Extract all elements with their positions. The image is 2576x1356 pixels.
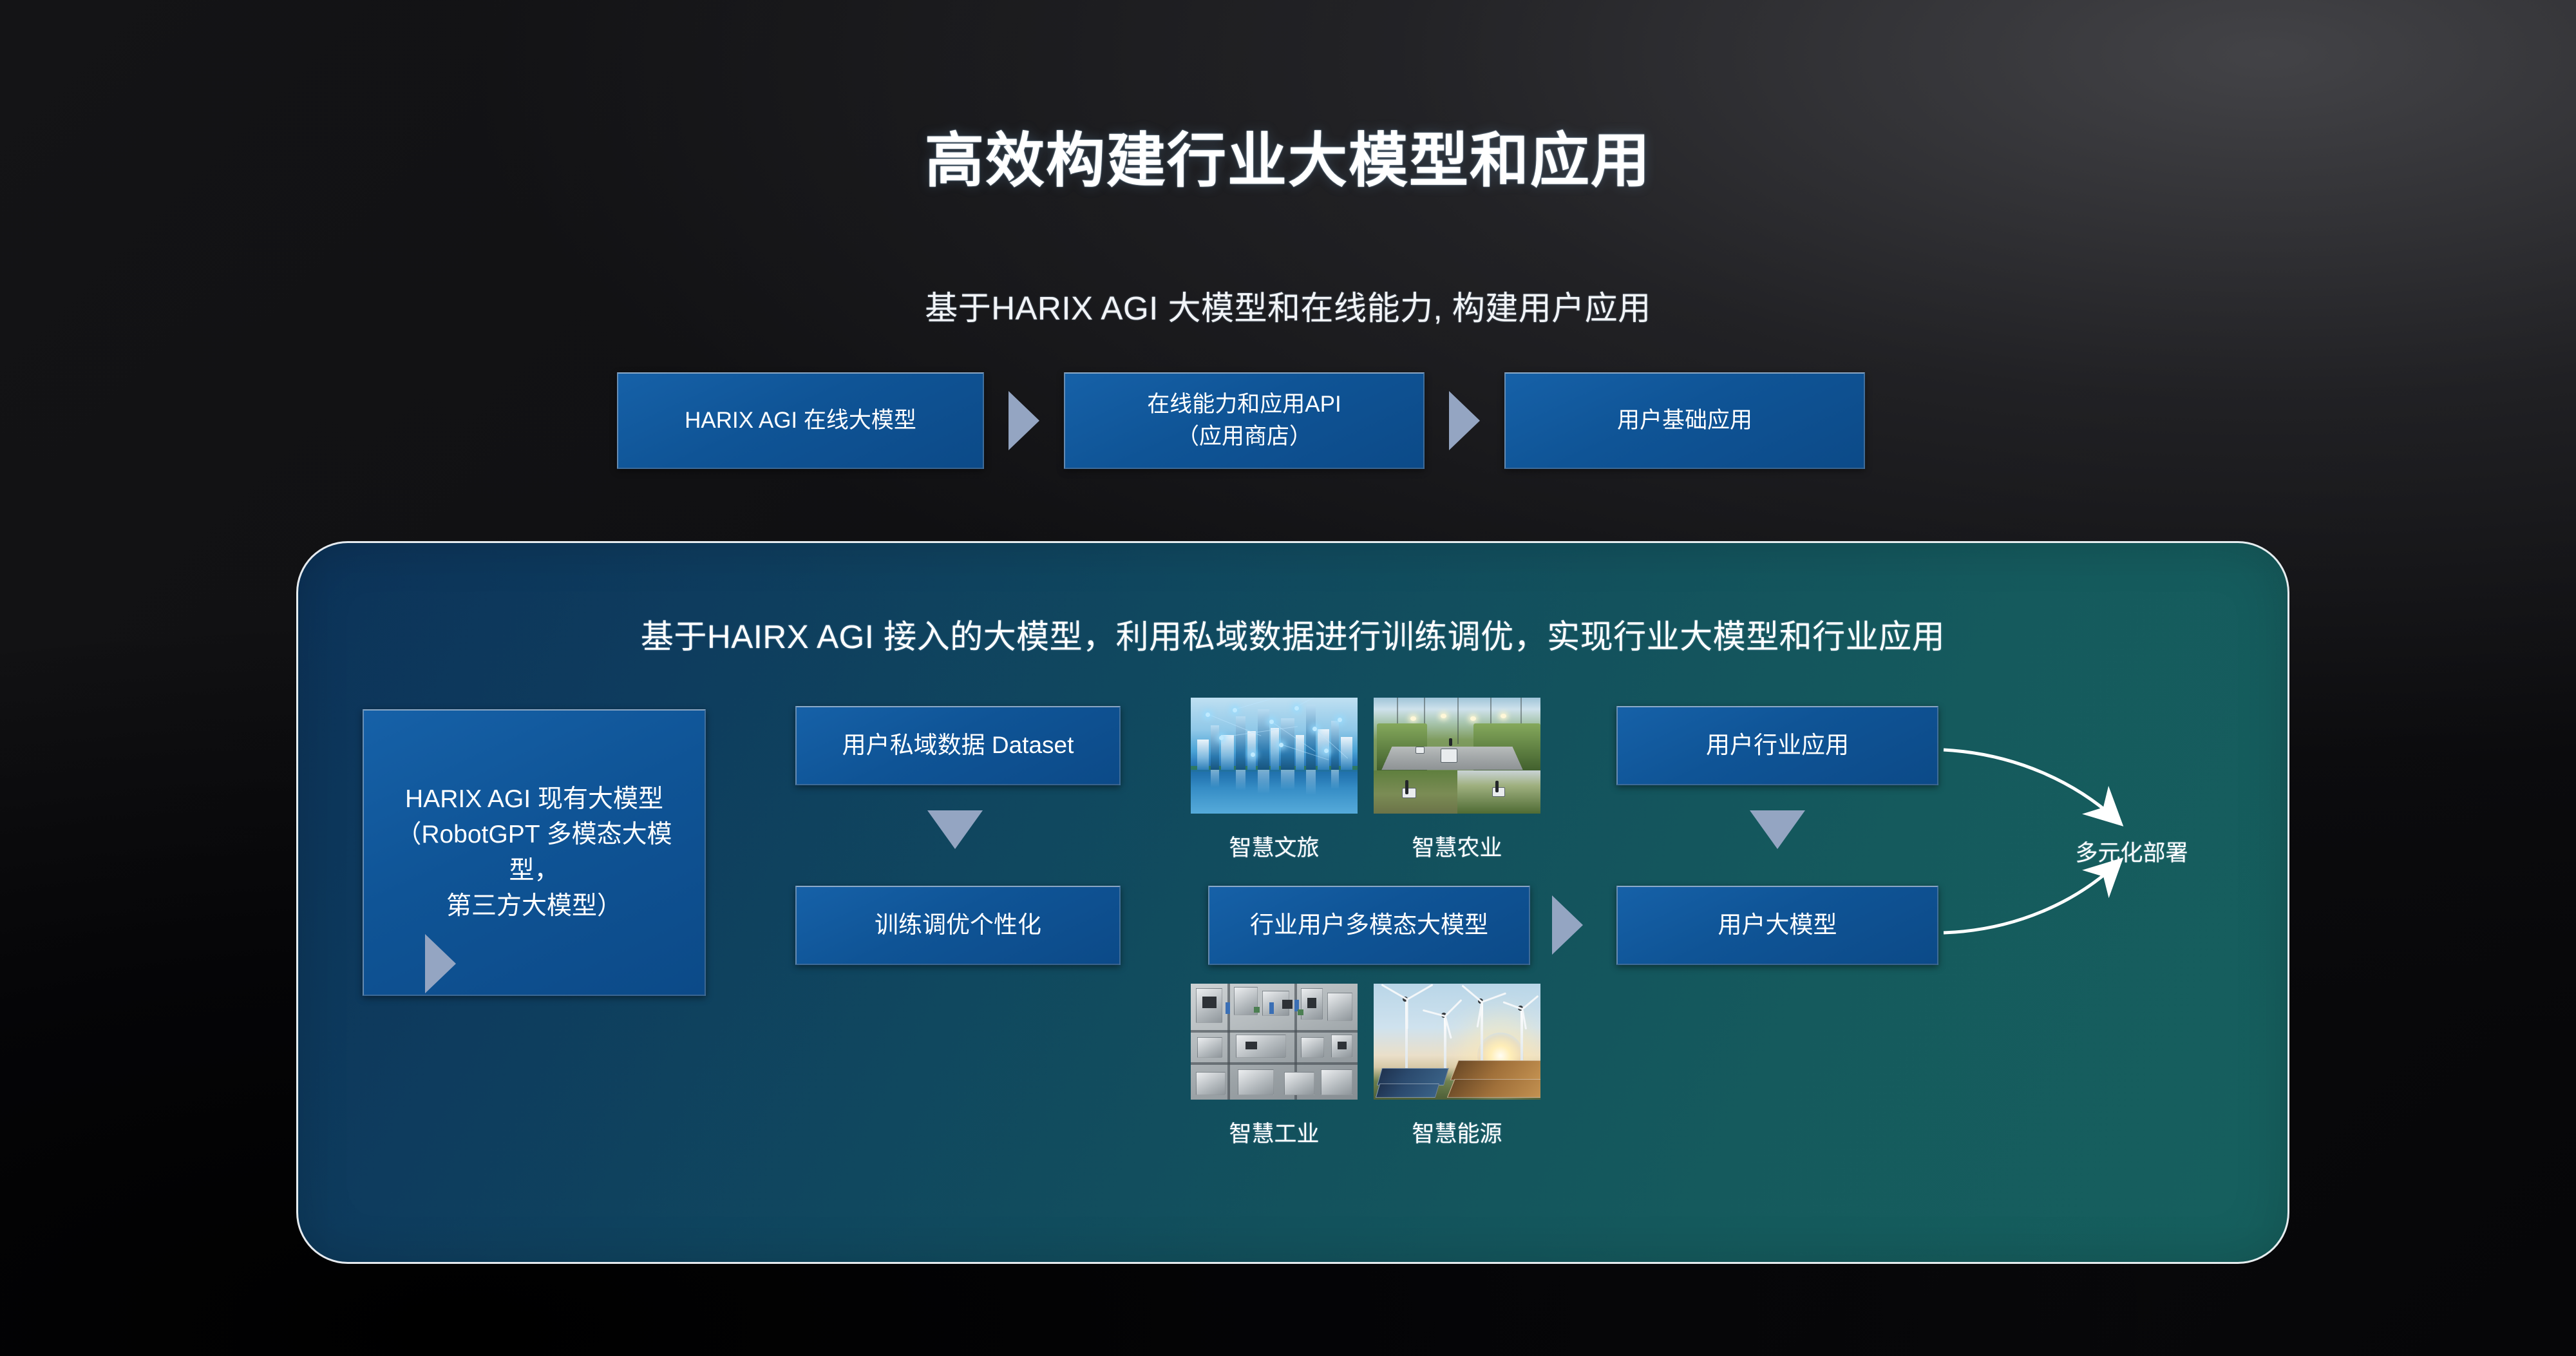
smart-tourism-image <box>1191 698 1358 814</box>
arrow-right-icon <box>1449 391 1480 450</box>
box-line-1: HARIX AGI 现有大模型 <box>374 781 694 817</box>
box-line-3: 第三方大模型） <box>374 888 694 924</box>
panel-box-harix-existing-models[interactable]: HARIX AGI 现有大模型 （RobotGPT 多模态大模型， 第三方大模型… <box>363 709 706 996</box>
image-tile-smart-agriculture[interactable] <box>1374 698 1540 814</box>
panel-box-user-large-model[interactable]: 用户大模型 <box>1616 886 1938 965</box>
panel-box-user-industry-app[interactable]: 用户行业应用 <box>1616 706 1938 785</box>
tile-caption-smart-industry: 智慧工业 <box>1191 1116 1358 1149</box>
flow-box-online-capability-api[interactable]: 在线能力和应用API （应用商店） <box>1064 372 1425 469</box>
flow-box-harix-online-model[interactable]: HARIX AGI 在线大模型 <box>617 372 984 469</box>
tile-caption-smart-tourism: 智慧文旅 <box>1191 830 1358 863</box>
arrow-down-icon <box>927 810 983 849</box>
arrow-right-icon <box>1009 391 1039 450</box>
top-section-subtitle: 基于HARIX AGI 大模型和在线能力, 构建用户应用 <box>0 282 2576 329</box>
tile-caption-smart-agriculture: 智慧农业 <box>1374 830 1540 863</box>
tile-caption-smart-energy: 智慧能源 <box>1374 1116 1540 1149</box>
top-flow-row: HARIX AGI 在线大模型 在线能力和应用API （应用商店） 用户基础应用 <box>617 372 1865 469</box>
arrow-right-icon <box>425 934 456 993</box>
smart-agriculture-image <box>1374 698 1540 814</box>
image-tile-smart-tourism[interactable] <box>1191 698 1358 814</box>
panel-box-training-tuning[interactable]: 训练调优个性化 <box>795 886 1121 965</box>
box-line-2: （RobotGPT 多模态大模型， <box>374 817 694 888</box>
smart-energy-image <box>1374 984 1540 1100</box>
smart-industry-image <box>1191 984 1358 1100</box>
page-title: 高效构建行业大模型和应用 <box>0 113 2576 198</box>
flow-box-user-base-app[interactable]: 用户基础应用 <box>1504 372 1865 469</box>
arrow-down-icon <box>1750 810 1805 849</box>
image-tile-smart-industry[interactable] <box>1191 984 1358 1100</box>
deployment-label: 多元化部署 <box>2045 835 2219 868</box>
panel-box-private-dataset[interactable]: 用户私域数据 Dataset <box>795 706 1121 785</box>
panel-heading: 基于HAIRX AGI 接入的大模型，利用私域数据进行训练调优，实现行业大模型和… <box>298 610 2287 658</box>
flow-box-line1: 在线能力和应用API <box>1147 388 1341 421</box>
image-tile-smart-energy[interactable] <box>1374 984 1540 1100</box>
panel-box-industry-multimodal-model[interactable]: 行业用户多模态大模型 <box>1208 886 1530 965</box>
arrow-right-icon <box>1552 895 1583 955</box>
flow-box-line2: （应用商店） <box>1147 421 1341 453</box>
